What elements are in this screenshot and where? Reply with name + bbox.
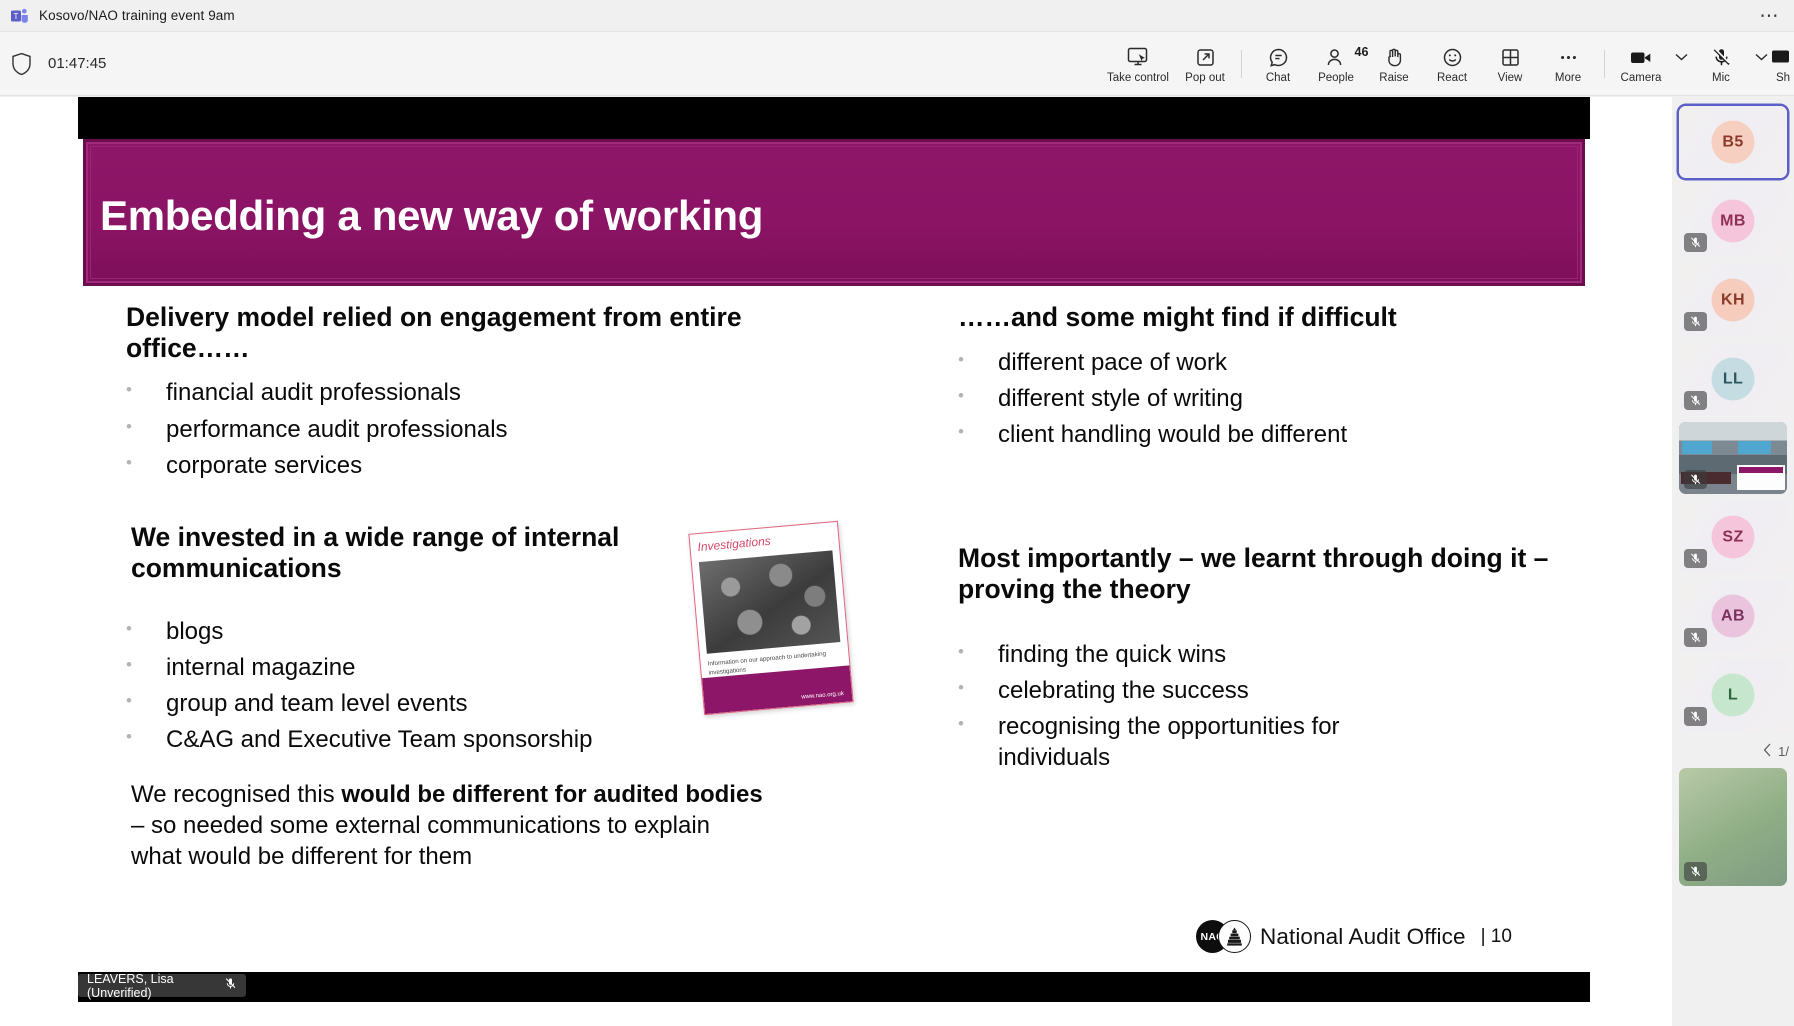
left-bullet-list-1: • financial audit professionals • perfor…	[126, 377, 826, 481]
bullet-dot-icon: •	[126, 616, 166, 642]
bullet-dot-icon: •	[126, 414, 166, 440]
bullet-dot-icon: •	[126, 450, 166, 476]
list-item-label: recognising the opportunities for indivi…	[998, 711, 1418, 773]
bullet-dot-icon: •	[958, 639, 998, 665]
shared-content-stage: Embedding a new way of working Delivery …	[0, 97, 1672, 1026]
bullet-dot-icon: •	[126, 377, 166, 403]
room-window	[1682, 441, 1712, 453]
list-item: • finding the quick wins	[958, 639, 1558, 670]
bullet-dot-icon: •	[958, 675, 998, 701]
mic-muted-icon	[1684, 233, 1707, 252]
list-item: • financial audit professionals	[126, 377, 826, 408]
mic-options-chevron-down-icon[interactable]	[1750, 32, 1772, 96]
more-button[interactable]: More	[1539, 32, 1597, 96]
meeting-title: Kosovo/NAO training event 9am	[39, 8, 235, 23]
share-label: Sh	[1776, 72, 1790, 84]
rail-pager: 1/	[1672, 738, 1794, 764]
room-projection-screen	[1737, 465, 1785, 489]
avatar: L	[1712, 674, 1755, 717]
mic-muted-icon	[1684, 628, 1707, 647]
slide: Embedding a new way of working Delivery …	[78, 97, 1590, 1002]
participant-tile-b5[interactable]: B5	[1679, 106, 1787, 178]
list-item-label: finding the quick wins	[998, 639, 1226, 670]
raise-hand-button[interactable]: Raise	[1365, 32, 1423, 96]
pop-out-icon	[1194, 43, 1217, 69]
list-item-label: corporate services	[166, 450, 362, 481]
participant-tile-kh[interactable]: KH	[1679, 264, 1787, 336]
list-item-label: performance audit professionals	[166, 414, 508, 445]
list-item-label: internal magazine	[166, 652, 355, 683]
camera-icon	[1628, 43, 1654, 69]
window-titlebar: T Kosovo/NAO training event 9am ⋯	[0, 0, 1794, 32]
camera-button[interactable]: Camera	[1612, 32, 1670, 96]
view-label: View	[1498, 72, 1523, 84]
participant-tile-sz[interactable]: SZ	[1679, 501, 1787, 573]
participant-tile-spotlight-video[interactable]	[1679, 768, 1787, 886]
slide-right-column: ……and some might find if difficult • dif…	[958, 302, 1558, 779]
take-control-label: Take control	[1107, 72, 1169, 84]
participant-tile-l[interactable]: L	[1679, 659, 1787, 731]
bullet-dot-icon: •	[958, 419, 998, 445]
pop-out-button[interactable]: Pop out	[1176, 32, 1234, 96]
raise-hand-icon	[1383, 43, 1406, 69]
view-grid-icon	[1499, 43, 1522, 69]
teams-icon: T	[10, 6, 30, 26]
call-timer: 01:47:45	[48, 55, 106, 72]
list-item: • corporate services	[126, 450, 826, 481]
more-ellipsis-icon	[1557, 43, 1580, 69]
chat-label: Chat	[1266, 72, 1290, 84]
list-item-label: blogs	[166, 616, 223, 647]
people-count-badge: 46	[1355, 45, 1369, 59]
slide-bottom-letterbox	[78, 972, 1590, 1002]
participant-tile-ab[interactable]: AB	[1679, 580, 1787, 652]
toolbar-actions: Take control Pop out Chat	[1100, 32, 1794, 95]
right-heading-1: ……and some might find if difficult	[958, 302, 1558, 333]
bullet-dot-icon: •	[958, 383, 998, 409]
view-button[interactable]: View	[1481, 32, 1539, 96]
list-item-label: client handling would be different	[998, 419, 1347, 450]
slide-footer: NAO National Audit Office | 10	[1196, 920, 1512, 953]
chevron-left-icon[interactable]	[1763, 743, 1772, 760]
react-label: React	[1437, 72, 1467, 84]
participant-tile-ll[interactable]: LL	[1679, 343, 1787, 415]
right-heading-2: Most importantly – we learnt through doi…	[958, 543, 1558, 604]
share-screen-icon	[1772, 43, 1794, 69]
camera-options-chevron-down-icon[interactable]	[1670, 32, 1692, 96]
participant-rail: B5 MB KH LL	[1672, 97, 1794, 1026]
participant-tile-mb[interactable]: MB	[1679, 185, 1787, 257]
toolbar-divider-2	[1604, 50, 1605, 78]
list-item-label: different style of writing	[998, 383, 1243, 414]
avatar: AB	[1712, 595, 1755, 638]
booklet-photo	[699, 550, 841, 653]
nao-crest-icon	[1218, 920, 1251, 953]
list-item: • different pace of work	[958, 347, 1558, 378]
take-control-button[interactable]: Take control	[1100, 32, 1176, 96]
slide-top-letterbox	[78, 97, 1590, 139]
raise-hand-label: Raise	[1379, 72, 1408, 84]
call-toolbar: 01:47:45 Take control P	[0, 32, 1794, 96]
camera-label: Camera	[1621, 72, 1662, 84]
list-item-label: financial audit professionals	[166, 377, 461, 408]
share-button[interactable]: Sh	[1772, 32, 1794, 96]
bullet-dot-icon: •	[126, 652, 166, 678]
react-smiley-icon	[1441, 43, 1464, 69]
list-item: • C&AG and Executive Team sponsorship	[126, 724, 826, 755]
avatar: LL	[1712, 358, 1755, 401]
shield-icon	[11, 52, 32, 76]
list-item: • different style of writing	[958, 383, 1558, 414]
avatar: B5	[1712, 121, 1755, 164]
nao-logo-icon: NAO National Audit Office	[1196, 920, 1466, 953]
paragraph-part-2: – so needed some external communications…	[131, 812, 710, 870]
chat-icon	[1267, 43, 1290, 69]
mic-muted-icon	[1684, 707, 1707, 726]
list-item-label: different pace of work	[998, 347, 1227, 378]
more-label: More	[1555, 72, 1581, 84]
paragraph-part-1: We recognised this	[131, 781, 341, 808]
list-item: • celebrating the success	[958, 675, 1558, 706]
right-bullet-list-2: • finding the quick wins • celebrating t…	[958, 639, 1558, 774]
avatar: MB	[1712, 200, 1755, 243]
rail-page-label: 1/	[1778, 744, 1789, 759]
chat-button[interactable]: Chat	[1249, 32, 1307, 96]
avatar: KH	[1712, 279, 1755, 322]
list-item: • recognising the opportunities for indi…	[958, 711, 1558, 773]
list-item-label: C&AG and Executive Team sponsorship	[166, 724, 592, 755]
bullet-dot-icon: •	[958, 711, 998, 737]
mic-muted-icon	[1684, 391, 1707, 410]
bullet-dot-icon: •	[126, 688, 166, 714]
toolbar-divider	[1241, 50, 1242, 78]
slide-title-banner: Embedding a new way of working	[83, 139, 1585, 286]
avatar: SZ	[1712, 516, 1755, 559]
take-control-icon	[1125, 43, 1151, 69]
people-label: People	[1318, 72, 1354, 84]
mic-muted-icon	[224, 977, 237, 994]
people-button[interactable]: 46 People	[1307, 32, 1365, 96]
mic-muted-icon	[1684, 470, 1707, 489]
pop-out-label: Pop out	[1185, 72, 1225, 84]
window-more-icon[interactable]: ⋯	[1760, 6, 1781, 25]
react-button[interactable]: React	[1423, 32, 1481, 96]
list-item: • client handling would be different	[958, 419, 1558, 450]
room-window	[1738, 441, 1770, 453]
nao-logotype: National Audit Office	[1260, 924, 1466, 950]
left-paragraph: We recognised this would be different fo…	[126, 780, 766, 872]
booklet-title: Investigations	[697, 534, 771, 554]
right-bullet-list-1: • different pace of work • different sty…	[958, 347, 1558, 451]
slide-title: Embedding a new way of working	[100, 192, 763, 240]
mic-muted-icon	[1684, 312, 1707, 331]
list-item: • performance audit professionals	[126, 414, 826, 445]
mic-muted-icon	[1710, 43, 1733, 69]
list-item-label: celebrating the success	[998, 675, 1249, 706]
participant-tile-room-video[interactable]	[1679, 422, 1787, 494]
list-item-label: group and team level events	[166, 688, 468, 719]
speaker-name: LEAVERS, Lisa (Unverified)	[87, 972, 217, 1000]
call-status-group: 01:47:45	[0, 52, 106, 76]
svg-text:T: T	[14, 12, 19, 21]
people-icon: 46	[1325, 43, 1348, 69]
mic-muted-icon	[1684, 549, 1707, 568]
left-heading-1: Delivery model relied on engagement from…	[126, 302, 826, 363]
bullet-dot-icon: •	[126, 724, 166, 750]
mic-label: Mic	[1712, 72, 1730, 84]
investigations-report-image: Investigations Information on our approa…	[688, 521, 853, 715]
mic-button[interactable]: Mic	[1692, 32, 1750, 96]
mic-muted-icon	[1684, 862, 1707, 881]
paragraph-bold: would be different for audited bodies	[341, 781, 762, 808]
bullet-dot-icon: •	[958, 347, 998, 373]
active-speaker-banner: LEAVERS, Lisa (Unverified)	[78, 974, 246, 997]
slide-page-number: | 10	[1481, 926, 1512, 948]
